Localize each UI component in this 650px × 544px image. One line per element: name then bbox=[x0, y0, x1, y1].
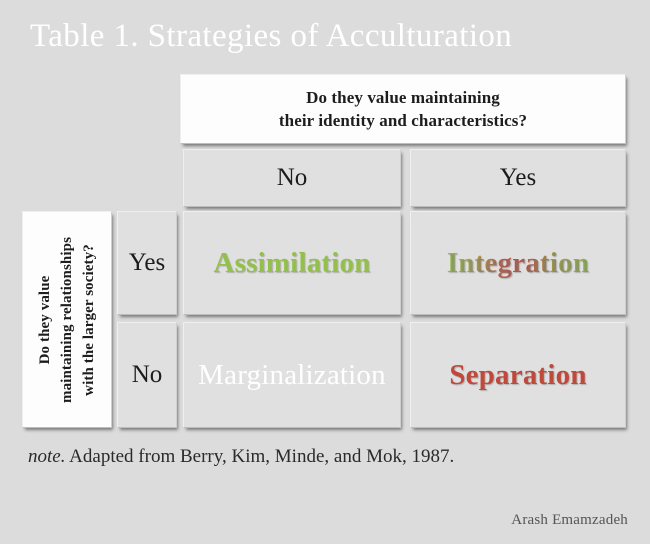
column-question-text: Do they value maintaining their identity… bbox=[279, 86, 527, 132]
cell-separation: Separation bbox=[410, 322, 626, 428]
acculturation-table-figure: Table 1. Strategies of Acculturation Do … bbox=[0, 0, 650, 544]
cell-integration: Integration bbox=[410, 211, 626, 315]
row-header-yes: Yes bbox=[117, 211, 177, 315]
source-note-label: note. bbox=[28, 446, 65, 467]
cell-separation-label: Separation bbox=[449, 359, 586, 392]
row-question-line-1: Do they value bbox=[34, 236, 56, 402]
column-header-no: No bbox=[183, 149, 401, 207]
source-note-text: Adapted from Berry, Kim, Minde, and Mok,… bbox=[65, 446, 454, 467]
row-question-line-2: maintaining relationships bbox=[56, 236, 78, 402]
column-header-no-label: No bbox=[277, 164, 308, 192]
row-question-header: Do they value maintaining relationships … bbox=[22, 211, 112, 428]
page-title: Table 1. Strategies of Acculturation bbox=[30, 16, 630, 56]
cell-assimilation: Assimilation bbox=[183, 211, 401, 315]
row-header-no: No bbox=[117, 322, 177, 428]
row-question-text: Do they value maintaining relationships … bbox=[34, 236, 100, 402]
column-question-line-2: their identity and characteristics? bbox=[279, 109, 527, 132]
cell-integration-label: Integration bbox=[447, 247, 589, 280]
cell-marginalization-label: Marginalization bbox=[198, 359, 386, 392]
author-credit: Arash Emamzadeh bbox=[511, 512, 628, 529]
column-header-yes: Yes bbox=[410, 149, 626, 207]
column-question-line-1: Do they value maintaining bbox=[279, 86, 527, 109]
cell-marginalization: Marginalization bbox=[183, 322, 401, 428]
column-question-header: Do they value maintaining their identity… bbox=[180, 74, 626, 144]
row-question-line-3: with the larger society? bbox=[78, 236, 100, 402]
column-header-yes-label: Yes bbox=[500, 164, 536, 192]
cell-assimilation-label: Assimilation bbox=[213, 247, 370, 280]
row-header-yes-label: Yes bbox=[129, 249, 165, 277]
source-note: note. Adapted from Berry, Kim, Minde, an… bbox=[28, 446, 454, 468]
row-header-no-label: No bbox=[132, 361, 163, 389]
